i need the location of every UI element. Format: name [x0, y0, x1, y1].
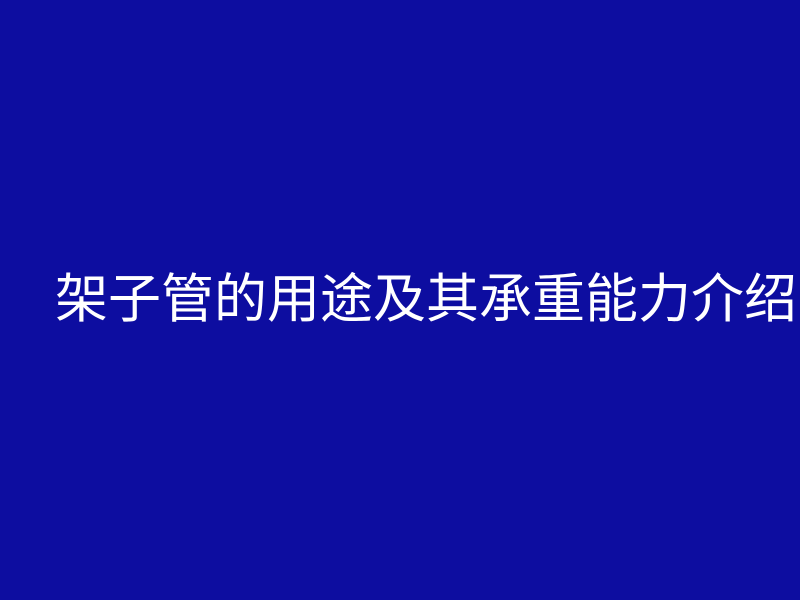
page-title: 架子管的用途及其承重能力介绍: [55, 272, 797, 328]
title-block: 架子管的用途及其承重能力介绍: [55, 0, 755, 600]
title-banner: 架子管的用途及其承重能力介绍: [0, 0, 800, 600]
